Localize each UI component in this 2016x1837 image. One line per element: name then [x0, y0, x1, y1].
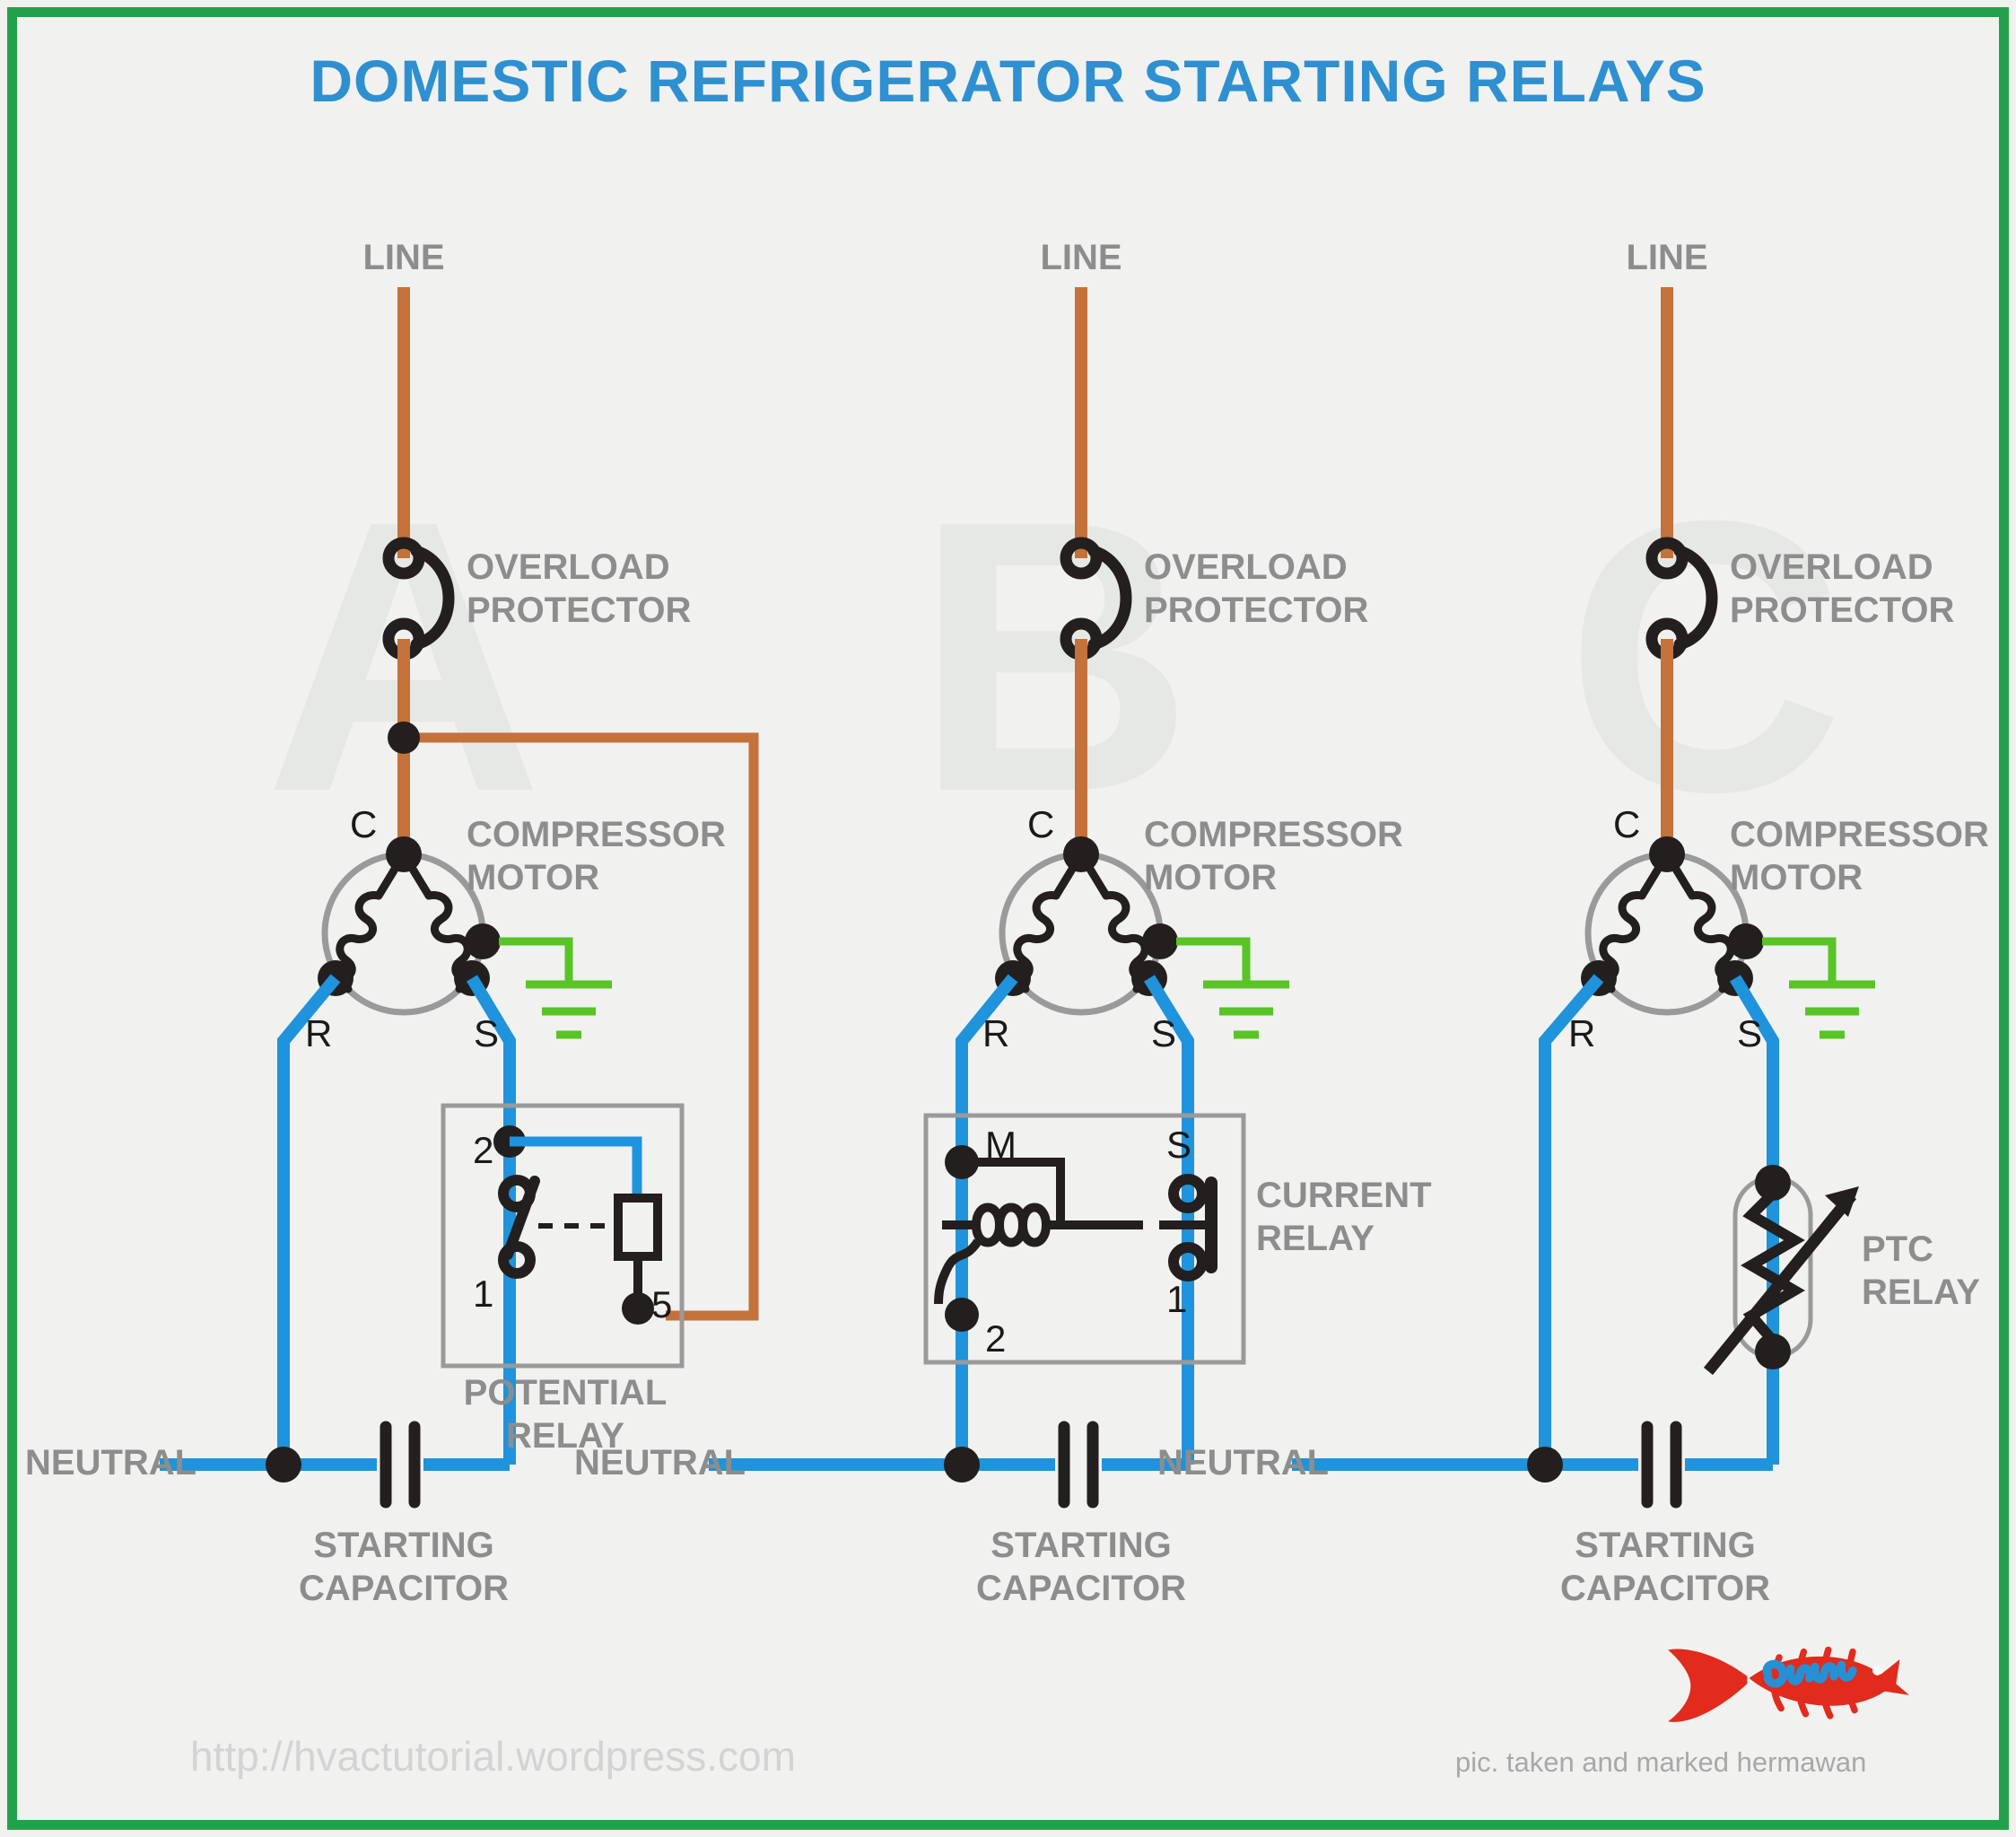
page-border-frame [7, 7, 2009, 1830]
diagram-page: A B C [0, 0, 2016, 1837]
